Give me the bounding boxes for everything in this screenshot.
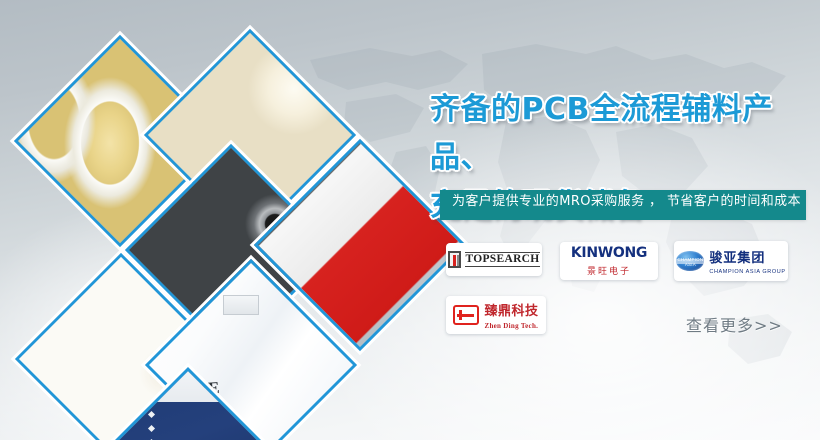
view-more-link[interactable]: 查看更多>>	[686, 312, 783, 336]
globe-icon-label: CHAMPION ASIA	[676, 257, 704, 267]
topsearch-mark-icon	[448, 251, 461, 268]
plate-corner-dots	[140, 412, 154, 440]
logo-badge-zhending[interactable]: 臻鼎科技 Zhen Ding Tech.	[446, 296, 546, 334]
zhending-mark-icon	[453, 305, 479, 325]
promo-banner: JIE 齐备的PCB全流程辅料产品、 充足的现货储备 为客户提供专业的MRO采购…	[0, 0, 820, 440]
kinwong-chinese-name: 景旺电子	[571, 264, 647, 277]
zhending-wordmark: Zhen Ding Tech.	[484, 322, 538, 330]
banner-subtitle-bar: 为客户提供专业的MRO采购服务 ， 节省客户的时间和成本	[440, 190, 806, 220]
kinwong-wordmark: KINWONG	[571, 245, 647, 261]
headline-line-1: 齐备的PCB全流程辅料产品、	[430, 92, 773, 175]
zhending-chinese-name: 臻鼎科技	[484, 300, 538, 319]
paper-tag-label	[223, 295, 259, 315]
logo-badge-topsearch[interactable]: TOPSEARCH	[446, 243, 542, 276]
champion-asia-chinese-name: 骏亚集团	[709, 247, 785, 266]
topsearch-wordmark: TOPSEARCH	[465, 252, 539, 267]
logo-badge-champion-asia[interactable]: CHAMPION ASIA 骏亚集团 CHAMPION ASIA GROUP	[674, 241, 788, 281]
logo-badge-kinwong[interactable]: KINWONG 景旺电子	[560, 242, 658, 280]
champion-asia-wordmark: CHAMPION ASIA GROUP	[709, 269, 785, 275]
product-image-collage: JIE	[0, 0, 430, 440]
globe-icon: CHAMPION ASIA	[676, 251, 704, 271]
